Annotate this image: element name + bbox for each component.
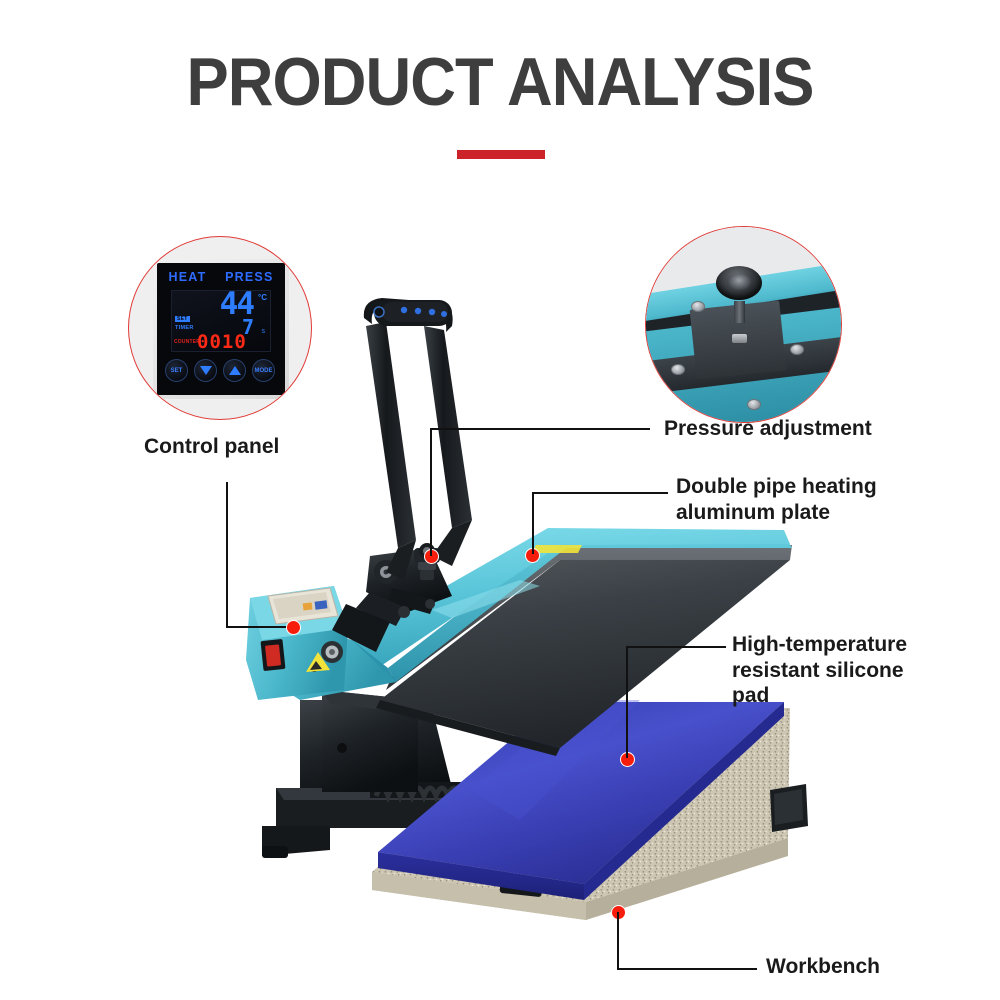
- chevron-down-icon: [200, 366, 212, 375]
- pressure-knob[interactable]: [716, 266, 762, 300]
- control-panel-buttons: SET MODE: [165, 358, 277, 386]
- knob-stem: [734, 301, 745, 323]
- control-panel-lcd: 44 °C SET TIMER 7 s COUNTER 0010: [171, 290, 271, 352]
- leader-line-control-panel-horizontal: [226, 626, 290, 628]
- bolt-icon: [747, 399, 761, 410]
- knob-nut: [732, 334, 747, 343]
- down-arrow-button[interactable]: [194, 359, 217, 382]
- leader-line-plate-horizontal: [532, 492, 668, 494]
- bolt-icon: [671, 364, 685, 375]
- label-pressure-adjustment: Pressure adjustment: [664, 416, 872, 442]
- label-heating-plate: Double pipe heating aluminum plate: [676, 474, 877, 525]
- leader-line-workbench-horizontal: [617, 968, 757, 970]
- callout-circle-control-panel: HEAT PRESS 44 °C SET TIMER 7 s COUNTER 0…: [128, 236, 312, 420]
- leader-line-control-panel-vertical: [226, 482, 228, 628]
- product-analysis-infographic: PRODUCT ANALYSIS: [0, 0, 1000, 1000]
- timer-tag: TIMER: [175, 325, 194, 331]
- knob-center: [727, 274, 751, 290]
- leader-line-pressure-horizontal: [430, 428, 650, 430]
- press-label: PRESS: [225, 270, 273, 284]
- marker-dot-control-panel: [286, 620, 301, 635]
- control-panel-photo: HEAT PRESS 44 °C SET TIMER 7 s COUNTER 0…: [153, 259, 289, 399]
- callout-circle-pressure-adjustment: [645, 226, 842, 423]
- leader-line-pad-horizontal: [626, 646, 726, 648]
- counter-value: 0010: [197, 333, 247, 352]
- set-tag: SET: [175, 316, 190, 322]
- up-arrow-button[interactable]: [223, 359, 246, 382]
- control-panel-face: HEAT PRESS 44 °C SET TIMER 7 s COUNTER 0…: [157, 263, 285, 395]
- seconds-unit: s: [262, 328, 266, 335]
- chevron-up-icon: [229, 366, 241, 375]
- set-button[interactable]: SET: [165, 359, 188, 382]
- leader-line-pad-vertical: [626, 646, 628, 758]
- heat-label: HEAT: [169, 270, 207, 284]
- label-silicone-pad: High-temperature resistant silicone pad: [732, 632, 907, 709]
- label-control-panel: Control panel: [144, 434, 279, 460]
- leader-line-workbench-vertical: [617, 912, 619, 970]
- bolt-icon: [691, 301, 705, 312]
- leader-line-pressure-vertical: [430, 428, 432, 556]
- temperature-unit: °C: [258, 293, 267, 302]
- leader-line-plate-vertical: [532, 492, 534, 554]
- mode-button[interactable]: MODE: [252, 359, 275, 382]
- control-panel-heading: HEAT PRESS: [157, 270, 285, 284]
- label-workbench: Workbench: [766, 954, 880, 980]
- pressure-adjustment-photo: [646, 227, 841, 422]
